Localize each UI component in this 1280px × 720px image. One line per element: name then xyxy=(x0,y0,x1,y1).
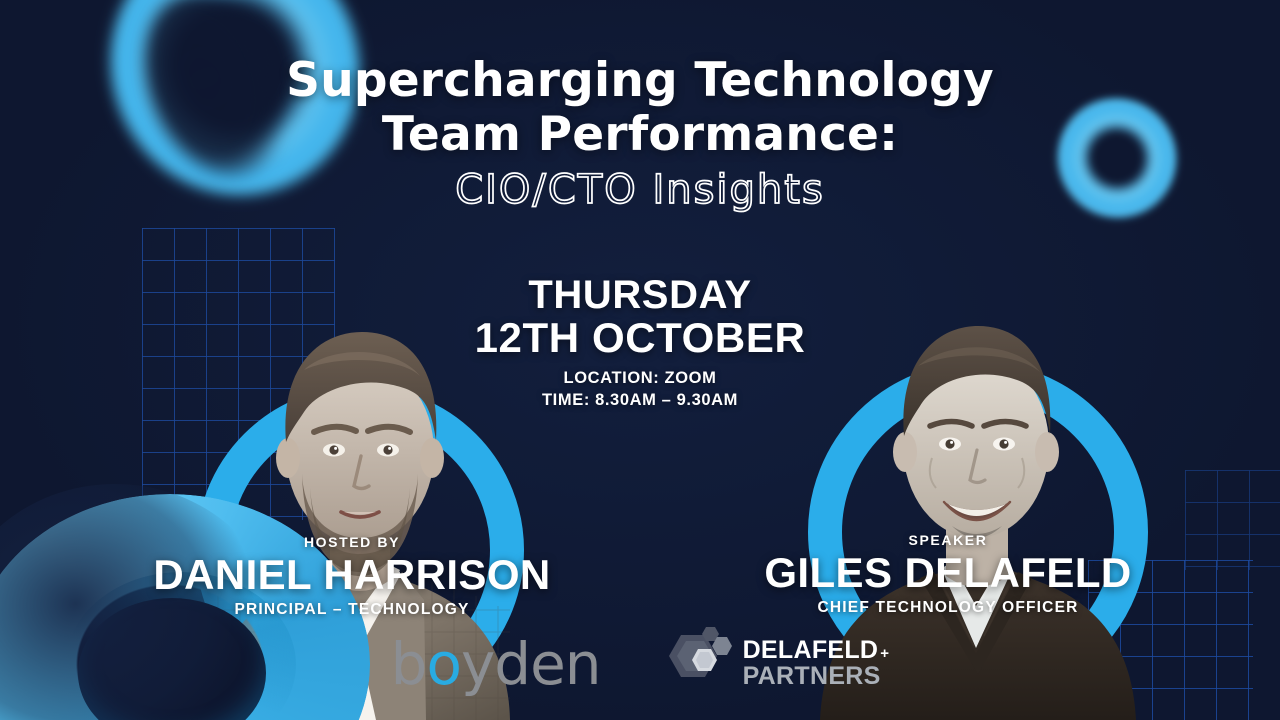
title-subtitle-outline: CIO/CTO Insights xyxy=(0,167,1280,213)
hexagon-cluster-icon xyxy=(659,625,733,702)
event-date: 12TH OCTOBER xyxy=(0,316,1280,361)
speaker-name: GILES DELAFELD xyxy=(680,550,1216,596)
host-role-label: HOSTED BY xyxy=(64,534,640,550)
event-time: TIME: 8.30AM – 9.30AM xyxy=(0,389,1280,411)
boyden-logo-accent-o: o xyxy=(426,635,461,693)
delafeld-logo-text: DELAFELD + PARTNERS xyxy=(743,638,890,689)
speaker-role-label: SPEAKER xyxy=(680,532,1216,548)
speaker-job-title: CHIEF TECHNOLOGY OFFICER xyxy=(680,599,1216,617)
title-line-2: Team Performance: xyxy=(0,108,1280,162)
delafeld-word: DELAFELD xyxy=(743,638,879,664)
delafeld-plus-mark: + xyxy=(880,646,889,661)
delafeld-partners-logo: DELAFELD + PARTNERS xyxy=(659,625,890,702)
host-job-title: PRINCIPAL – TECHNOLOGY xyxy=(64,601,640,619)
host-name: DANIEL HARRISON xyxy=(64,552,640,598)
event-details: THURSDAY 12TH OCTOBER LOCATION: ZOOM TIM… xyxy=(0,274,1280,411)
webinar-promo-slide: Supercharging Technology Team Performanc… xyxy=(0,0,1280,720)
delafeld-logo-line-1: DELAFELD + xyxy=(743,638,890,664)
title-line-1: Supercharging Technology xyxy=(0,54,1280,108)
host-block: HOSTED BY DANIEL HARRISON PRINCIPAL – TE… xyxy=(64,534,640,619)
page-title: Supercharging Technology Team Performanc… xyxy=(0,54,1280,213)
boyden-logo-part-3: yden xyxy=(461,635,601,693)
boyden-logo: b o yden xyxy=(391,635,601,693)
event-location: LOCATION: ZOOM xyxy=(0,367,1280,389)
logo-row: b o yden DELAFELD xyxy=(0,625,1280,702)
event-day: THURSDAY xyxy=(0,274,1280,316)
delafeld-logo-line-2: PARTNERS xyxy=(743,664,890,690)
speaker-block: SPEAKER GILES DELAFELD CHIEF TECHNOLOGY … xyxy=(680,532,1216,617)
boyden-logo-part-1: b xyxy=(391,635,427,693)
